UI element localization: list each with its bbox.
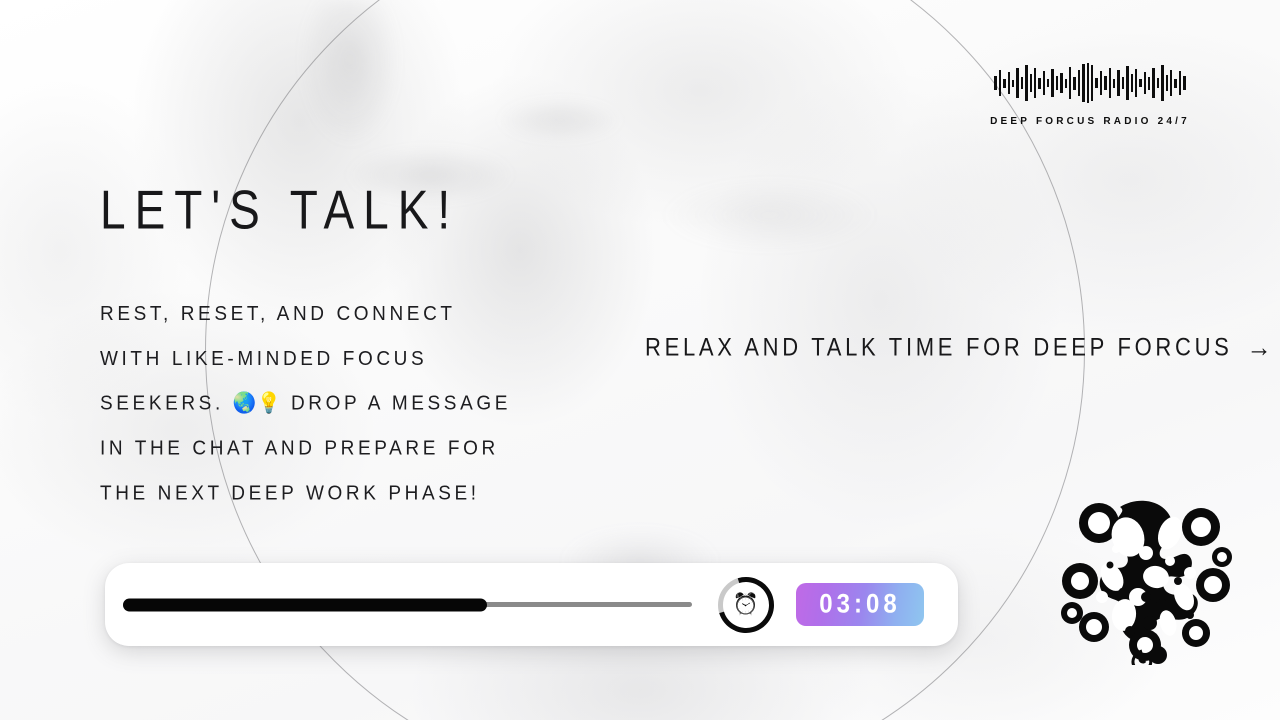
waveform-bar: [1183, 76, 1185, 90]
waveform-bar: [1073, 77, 1075, 90]
waveform-bar: [1025, 65, 1027, 101]
waveform-bar: [1051, 69, 1053, 97]
alarm-timer-button[interactable]: ⏰: [718, 577, 774, 633]
progress-bar-fill: [123, 598, 487, 611]
waveform-bar: [1056, 76, 1058, 90]
waveform-bar: [1078, 70, 1080, 96]
tagline[interactable]: RELAX AND TALK TIME FOR DEEP FORCUS →: [645, 333, 1272, 362]
waveform-bar: [1139, 79, 1141, 87]
waveform-bar: [1065, 79, 1067, 88]
waveform-bar: [1152, 68, 1154, 98]
globe-icon: 🌏: [233, 393, 258, 415]
waveform-bar: [1117, 70, 1119, 96]
waveform-bar: [1016, 68, 1018, 98]
description-line-3-suffix: DROP A MESSAGE: [282, 393, 511, 415]
waveform-bar: [994, 76, 996, 90]
alarm-clock-icon: ⏰: [718, 577, 774, 633]
waveform-bar: [1166, 75, 1168, 91]
description-line-2: WITH LIKE-MINDED FOCUS: [100, 337, 570, 382]
waveform-bar: [1095, 78, 1097, 88]
arrow-right-icon: →: [1247, 334, 1272, 362]
waveform-bar: [1161, 65, 1163, 101]
waveform-bar: [1082, 64, 1084, 102]
waveform-bar: [1038, 78, 1040, 89]
waveform-bar: [1174, 79, 1176, 88]
waveform-bar: [1060, 73, 1062, 93]
description-line-5: THE NEXT DEEP WORK PHASE!: [100, 472, 570, 517]
waveform-bar: [1170, 70, 1172, 96]
waveform-bar: [1179, 71, 1181, 95]
waveform-bar: [1104, 76, 1106, 90]
slide-canvas: DEEP FORCUS RADIO 24/7 LET'S TALK! REST,…: [0, 0, 1280, 720]
waveform-bar: [1148, 77, 1150, 90]
waveform-bar: [1100, 71, 1102, 95]
waveform-bar: [1021, 77, 1023, 89]
audio-player-card: ⏰ 03:08: [105, 563, 958, 646]
lightbulb-icon: 💡: [257, 393, 282, 415]
brand-caption: DEEP FORCUS RADIO 24/7: [990, 116, 1190, 127]
description-line-3: SEEKERS. 🌏💡 DROP A MESSAGE: [100, 382, 570, 427]
waveform-bar: [1003, 79, 1005, 88]
time-remaining-label: 03:08: [819, 589, 900, 620]
waveform-bar: [1034, 68, 1036, 98]
tagline-label: RELAX AND TALK TIME FOR DEEP FORCUS: [645, 333, 1233, 362]
waveform-bar: [1113, 79, 1115, 88]
progress-bar-track[interactable]: [123, 602, 692, 607]
waveform-bar: [1012, 80, 1014, 87]
description-line-4: IN THE CHAT AND PREPARE FOR: [100, 427, 570, 472]
description-line-1: REST, RESET, AND CONNECT: [100, 292, 570, 337]
waveform-bar: [1030, 74, 1032, 92]
waveform-bar: [1109, 68, 1111, 98]
waveform-bar: [1087, 63, 1089, 103]
hero-description: REST, RESET, AND CONNECT WITH LIKE-MINDE…: [100, 292, 570, 517]
time-remaining-badge[interactable]: 03:08: [796, 583, 924, 626]
waveform-bar: [1069, 67, 1071, 99]
audio-waveform-icon: [990, 58, 1190, 108]
waveform-bar: [1144, 72, 1146, 94]
waveform-bar: [1131, 74, 1133, 92]
description-line-3-prefix: SEEKERS.: [100, 393, 233, 415]
waveform-bar: [1043, 71, 1045, 95]
waveform-bar: [999, 70, 1001, 96]
waveform-bar: [1135, 69, 1137, 97]
waveform-bar: [1008, 72, 1010, 94]
brand-logo: DEEP FORCUS RADIO 24/7: [990, 58, 1190, 127]
waveform-bar: [1047, 79, 1049, 87]
waveform-bar: [1157, 78, 1159, 88]
waveform-bar: [1091, 65, 1093, 101]
page-title: LET'S TALK!: [100, 178, 459, 242]
waveform-bar: [1126, 66, 1128, 100]
waveform-bar: [1122, 77, 1124, 89]
